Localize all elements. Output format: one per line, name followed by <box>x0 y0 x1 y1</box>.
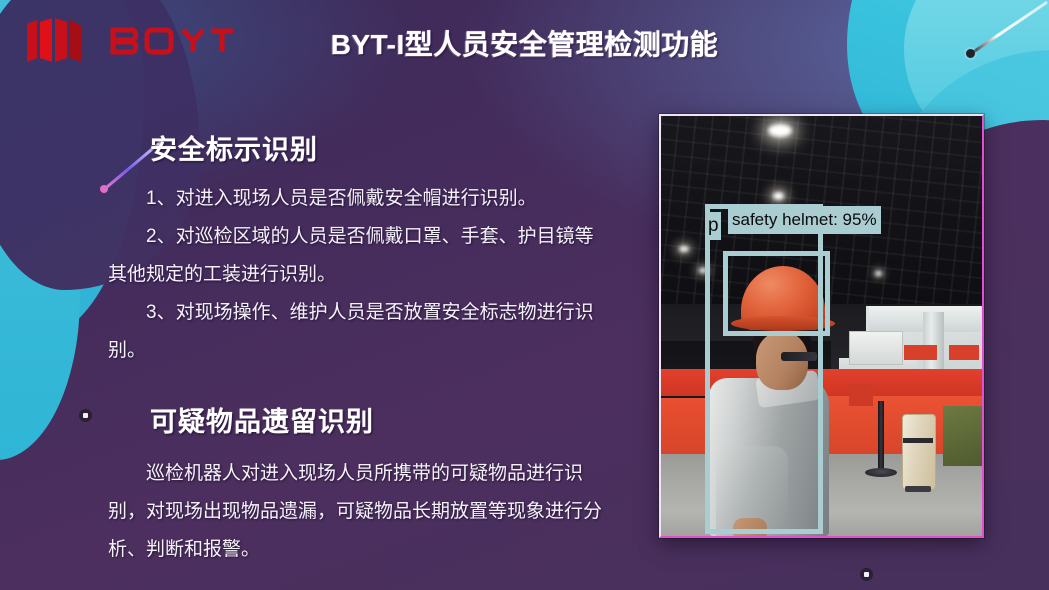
detection-label-helmet: safety helmet: 95% <box>728 206 881 234</box>
decor-blob-left-cyan-2 <box>0 160 80 460</box>
photo-queue-pole <box>878 401 884 471</box>
decor-spark-dot <box>100 185 108 193</box>
slide-canvas: BYT-I型人员安全管理检测功能 安全标示识别 1、对进入现场人员是否佩戴安全帽… <box>0 0 1049 590</box>
detection-photo: p safety helmet: 95% <box>661 116 982 536</box>
photo-ceiling-lamp <box>768 124 792 137</box>
photo-queue-pole-base <box>865 468 897 477</box>
detection-label-person: p <box>705 212 721 240</box>
section-paragraph-1-2: 2、对巡检区域的人员是否佩戴口罩、手套、护目镜等其他规定的工装进行识别。 <box>108 218 608 294</box>
photo-ceiling-lamp <box>679 246 689 252</box>
photo-red-sign <box>949 345 979 360</box>
section-paragraph-2-1: 巡检机器人对进入现场人员所携带的可疑物品进行识别，对现场出现物品遗漏，可疑物品长… <box>108 455 608 569</box>
content-column: 安全标示识别 1、对进入现场人员是否佩戴安全帽进行识别。 2、对巡检区域的人员是… <box>108 128 608 569</box>
section-heading-suspicious-object: 可疑物品遗留识别 <box>150 400 608 439</box>
photo-green-equipment <box>943 406 982 466</box>
slide-title: BYT-I型人员安全管理检测功能 <box>0 23 1049 63</box>
photo-red-sign <box>849 384 873 406</box>
photo-ceiling-lamp <box>875 271 882 276</box>
photo-ceiling-lamp <box>773 192 784 200</box>
section-paragraph-1-1: 1、对进入现场人员是否佩戴安全帽进行识别。 <box>108 180 608 218</box>
section-heading-safety-sign: 安全标示识别 <box>150 128 608 167</box>
decor-ring-dot-right <box>860 568 873 581</box>
photo-red-sign <box>904 345 937 360</box>
detection-box-helmet <box>723 251 830 336</box>
photo-cabinet-band <box>903 438 933 443</box>
photo-cabinet-foot <box>905 486 931 492</box>
detection-photo-frame: p safety helmet: 95% <box>659 114 984 538</box>
photo-cabinet <box>902 414 936 490</box>
decor-ring-dot-left <box>79 409 92 422</box>
section-paragraph-1-3: 3、对现场操作、维护人员是否放置安全标志物进行识别。 <box>108 294 608 370</box>
photo-white-panel <box>849 331 903 365</box>
